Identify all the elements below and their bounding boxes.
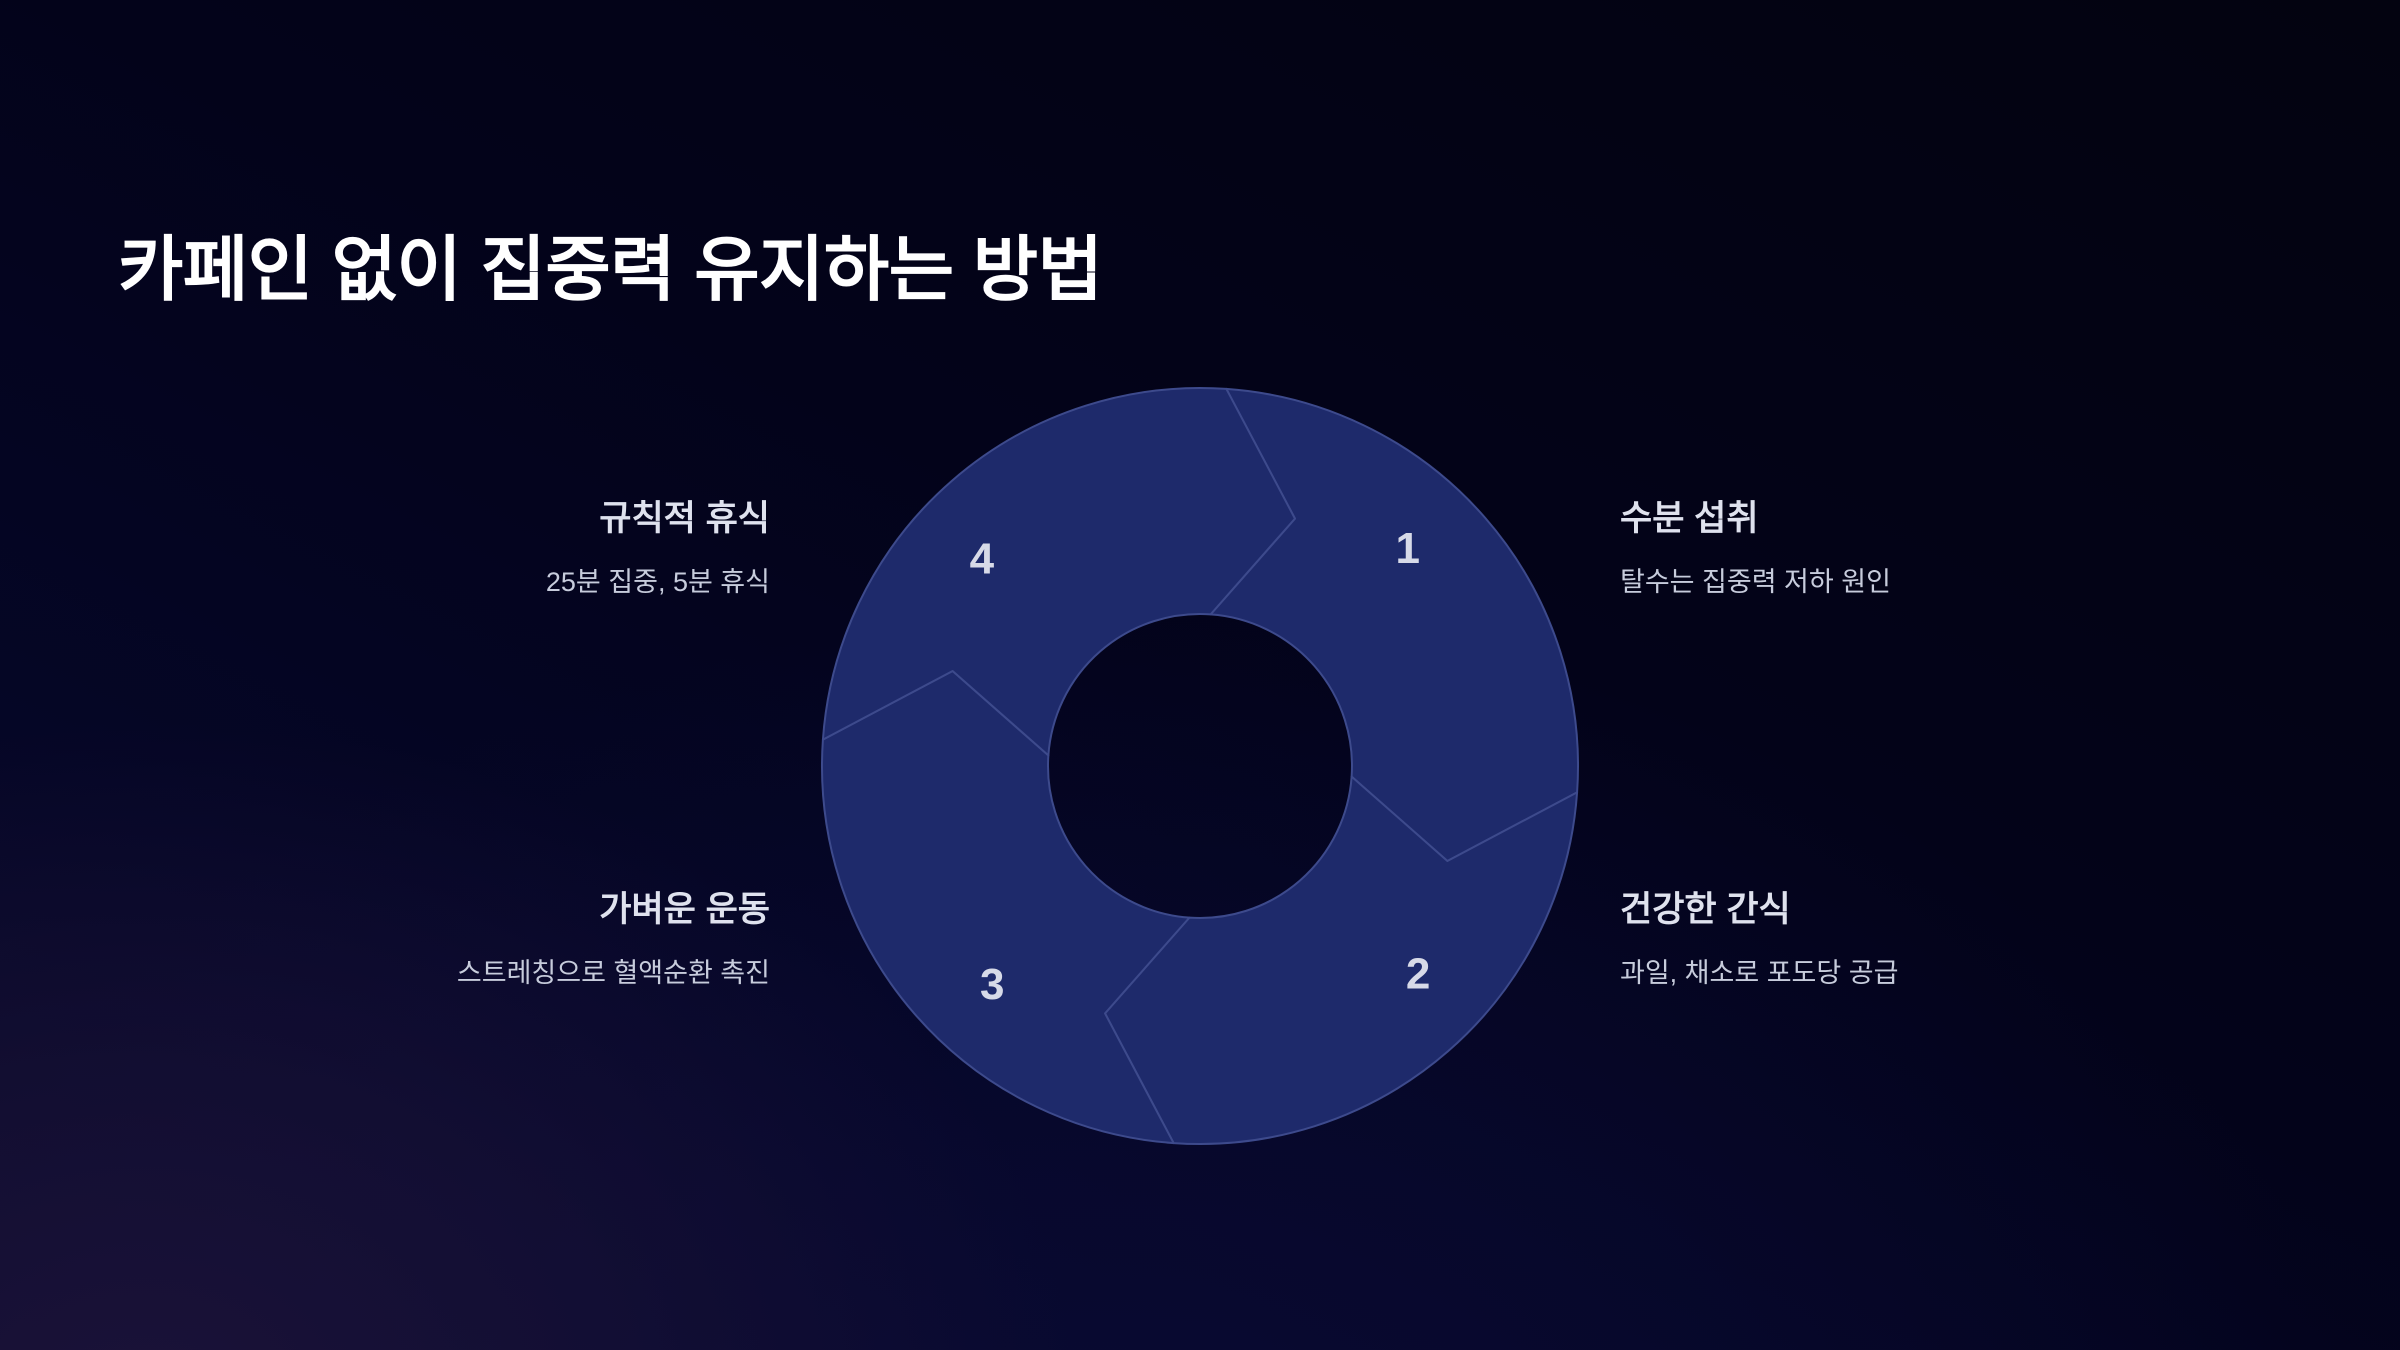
callout-1-description: 25분 집중, 5분 휴식 — [250, 565, 770, 600]
callout-3-description: 과일, 채소로 포도당 공급 — [1620, 956, 2140, 991]
callout-segment-2[interactable]: 수분 섭취 탈수는 집중력 저하 원인 — [1620, 497, 2140, 600]
cycle-segment-number-4: 4 — [970, 534, 995, 583]
callout-segment-3[interactable]: 건강한 간식 과일, 채소로 포도당 공급 — [1620, 888, 2140, 991]
callout-4-description: 스트레칭으로 혈액순환 촉진 — [250, 956, 770, 991]
callout-1-title: 규칙적 휴식 — [250, 497, 770, 541]
cycle-segment-number-2: 2 — [1406, 950, 1430, 999]
cycle-segment-1[interactable] — [1211, 389, 1578, 861]
cycle-segment-3[interactable] — [822, 671, 1189, 1143]
callout-segment-4[interactable]: 가벼운 운동 스트레칭으로 혈액순환 촉진 — [250, 888, 770, 991]
cycle-segment-number-1: 1 — [1395, 524, 1419, 573]
callout-2-description: 탈수는 집중력 저하 원인 — [1620, 565, 2140, 600]
cycle-segment-number-3: 3 — [980, 960, 1004, 1009]
callout-3-title: 건강한 간식 — [1620, 888, 2140, 932]
cycle-diagram: 1234 — [0, 0, 2400, 1350]
callout-segment-1[interactable]: 규칙적 휴식 25분 집중, 5분 휴식 — [250, 497, 770, 600]
slide-canvas: 카페인 없이 집중력 유지하는 방법 1234 규칙적 휴식 25분 집중, 5… — [0, 0, 2400, 1350]
cycle-diagram-svg: 1234 — [0, 0, 2400, 1350]
cycle-segment-2[interactable] — [1105, 777, 1577, 1144]
cycle-segment-4[interactable] — [823, 388, 1295, 755]
callout-2-title: 수분 섭취 — [1620, 497, 2140, 541]
callout-4-title: 가벼운 운동 — [250, 888, 770, 932]
cycle-segments-group — [822, 388, 1578, 1144]
